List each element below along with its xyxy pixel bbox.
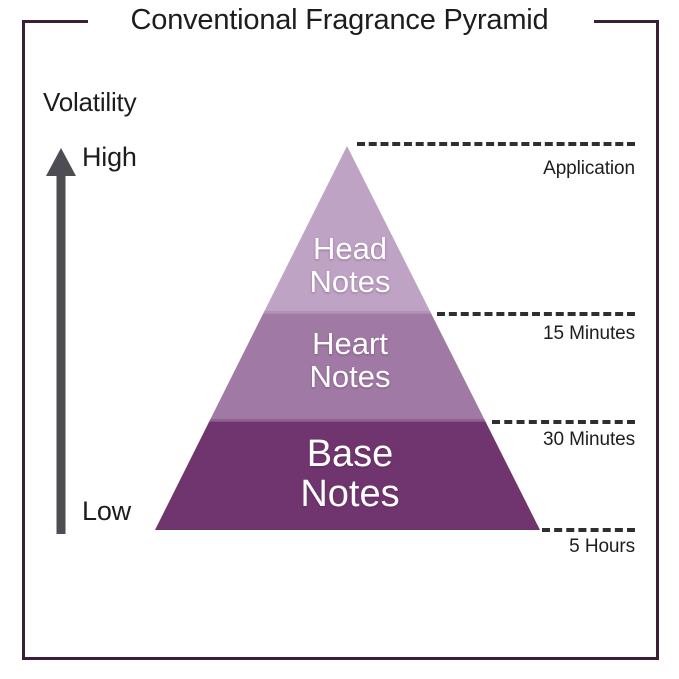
timeline-label-five-hours: 5 Hours	[335, 536, 635, 558]
timeline-label-fifteen-minutes: 15 Minutes	[335, 323, 635, 345]
diagram-title: Conventional Fragrance Pyramid	[0, 4, 679, 37]
fragrance-pyramid-diagram: Conventional Fragrance Pyramid Volatilit…	[0, 0, 679, 679]
frame-border-right	[656, 20, 659, 660]
frame-border-left	[22, 20, 25, 660]
leader-line-fifteen-minutes	[437, 312, 635, 316]
volatility-axis-label: Volatility	[43, 87, 136, 118]
frame-border-bottom	[22, 657, 659, 660]
leader-line-application	[357, 142, 635, 146]
timeline-label-thirty-minutes: 30 Minutes	[335, 429, 635, 451]
leader-line-thirty-minutes	[492, 420, 635, 424]
up-arrow-icon	[44, 146, 78, 534]
axis-high-label: High	[82, 142, 137, 173]
timeline-label-application: Application	[335, 158, 635, 180]
leader-line-five-hours	[542, 528, 635, 532]
axis-low-label: Low	[82, 496, 131, 527]
